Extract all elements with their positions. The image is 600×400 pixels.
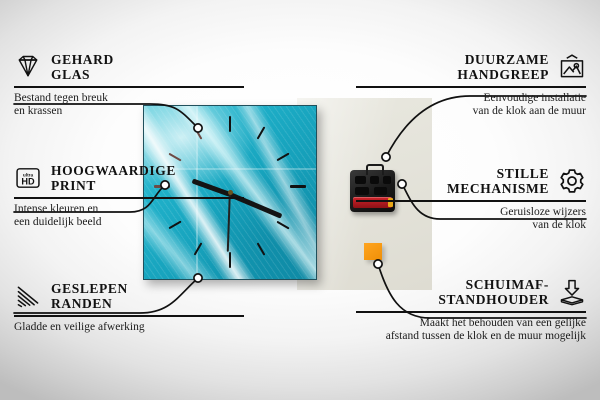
feature-description: Maakt het behouden van een gelijke afsta… [356,317,586,344]
svg-text:HD: HD [21,177,35,187]
feature-title: HOOGWAARDIGE PRINT [51,163,176,193]
feature-description: Geruisloze wijzers van de klok [356,206,586,233]
hour-marker [229,252,231,268]
feature-header: SCHUIMAF- STANDHOUDER [356,277,586,307]
diamond-icon [14,53,42,81]
feature-divider [356,86,586,88]
infographic-canvas: GEHARD GLAS Bestand tegen breuk en krass… [0,0,600,400]
feature-divider [14,197,244,199]
feature-title: SCHUIMAF- STANDHOUDER [438,277,549,307]
feature-description: Bestand tegen breuk en krassen [14,92,244,119]
feature-divider [356,311,586,313]
arrow-down-onto-block-icon [558,278,586,306]
feature-description: Intense kleuren en een duidelijk beeld [14,203,244,230]
picture-frame-icon [558,53,586,81]
feature-header: STILLE MECHANISME [356,166,586,196]
feature-description: Eenvoudige installatie van de klok aan d… [356,92,586,119]
ultra-hd-icon: ultra HD [14,164,42,192]
feature-title: GESLEPEN RANDEN [51,281,128,311]
feature-header: DUURZAME HANDGREEP [356,52,586,82]
feature-schuimaf-standhouder: SCHUIMAF- STANDHOUDER Maakt het behouden… [356,277,586,344]
feature-title: DUURZAME HANDGREEP [457,52,549,82]
feature-stille-mechanisme: STILLE MECHANISME Geruisloze wijzers van… [356,166,586,233]
feature-header: GESLEPEN RANDEN [14,281,244,311]
feature-gehard-glas: GEHARD GLAS Bestand tegen breuk en krass… [14,52,244,119]
feature-hoogwaardige-print: ultra HD HOOGWAARDIGE PRINT Intense kleu… [14,163,244,230]
feature-header: ultra HD HOOGWAARDIGE PRINT [14,163,244,193]
feature-divider [356,200,586,202]
feature-divider [14,315,244,317]
feature-header: GEHARD GLAS [14,52,244,82]
gear-icon [558,167,586,195]
hour-marker [290,185,306,188]
feature-description: Gladde en veilige afwerking [14,321,244,335]
feature-geslepen-randen: GESLEPEN RANDEN Gladde en veilige afwerk… [14,281,244,334]
diagonal-lines-icon [14,282,42,310]
feature-title: STILLE MECHANISME [447,166,549,196]
foam-spacer-pad [364,243,382,260]
feature-duurzame-handgreep: DUURZAME HANDGREEP Eenvoudige installati… [356,52,586,119]
feature-title: GEHARD GLAS [51,52,114,82]
feature-divider [14,86,244,88]
